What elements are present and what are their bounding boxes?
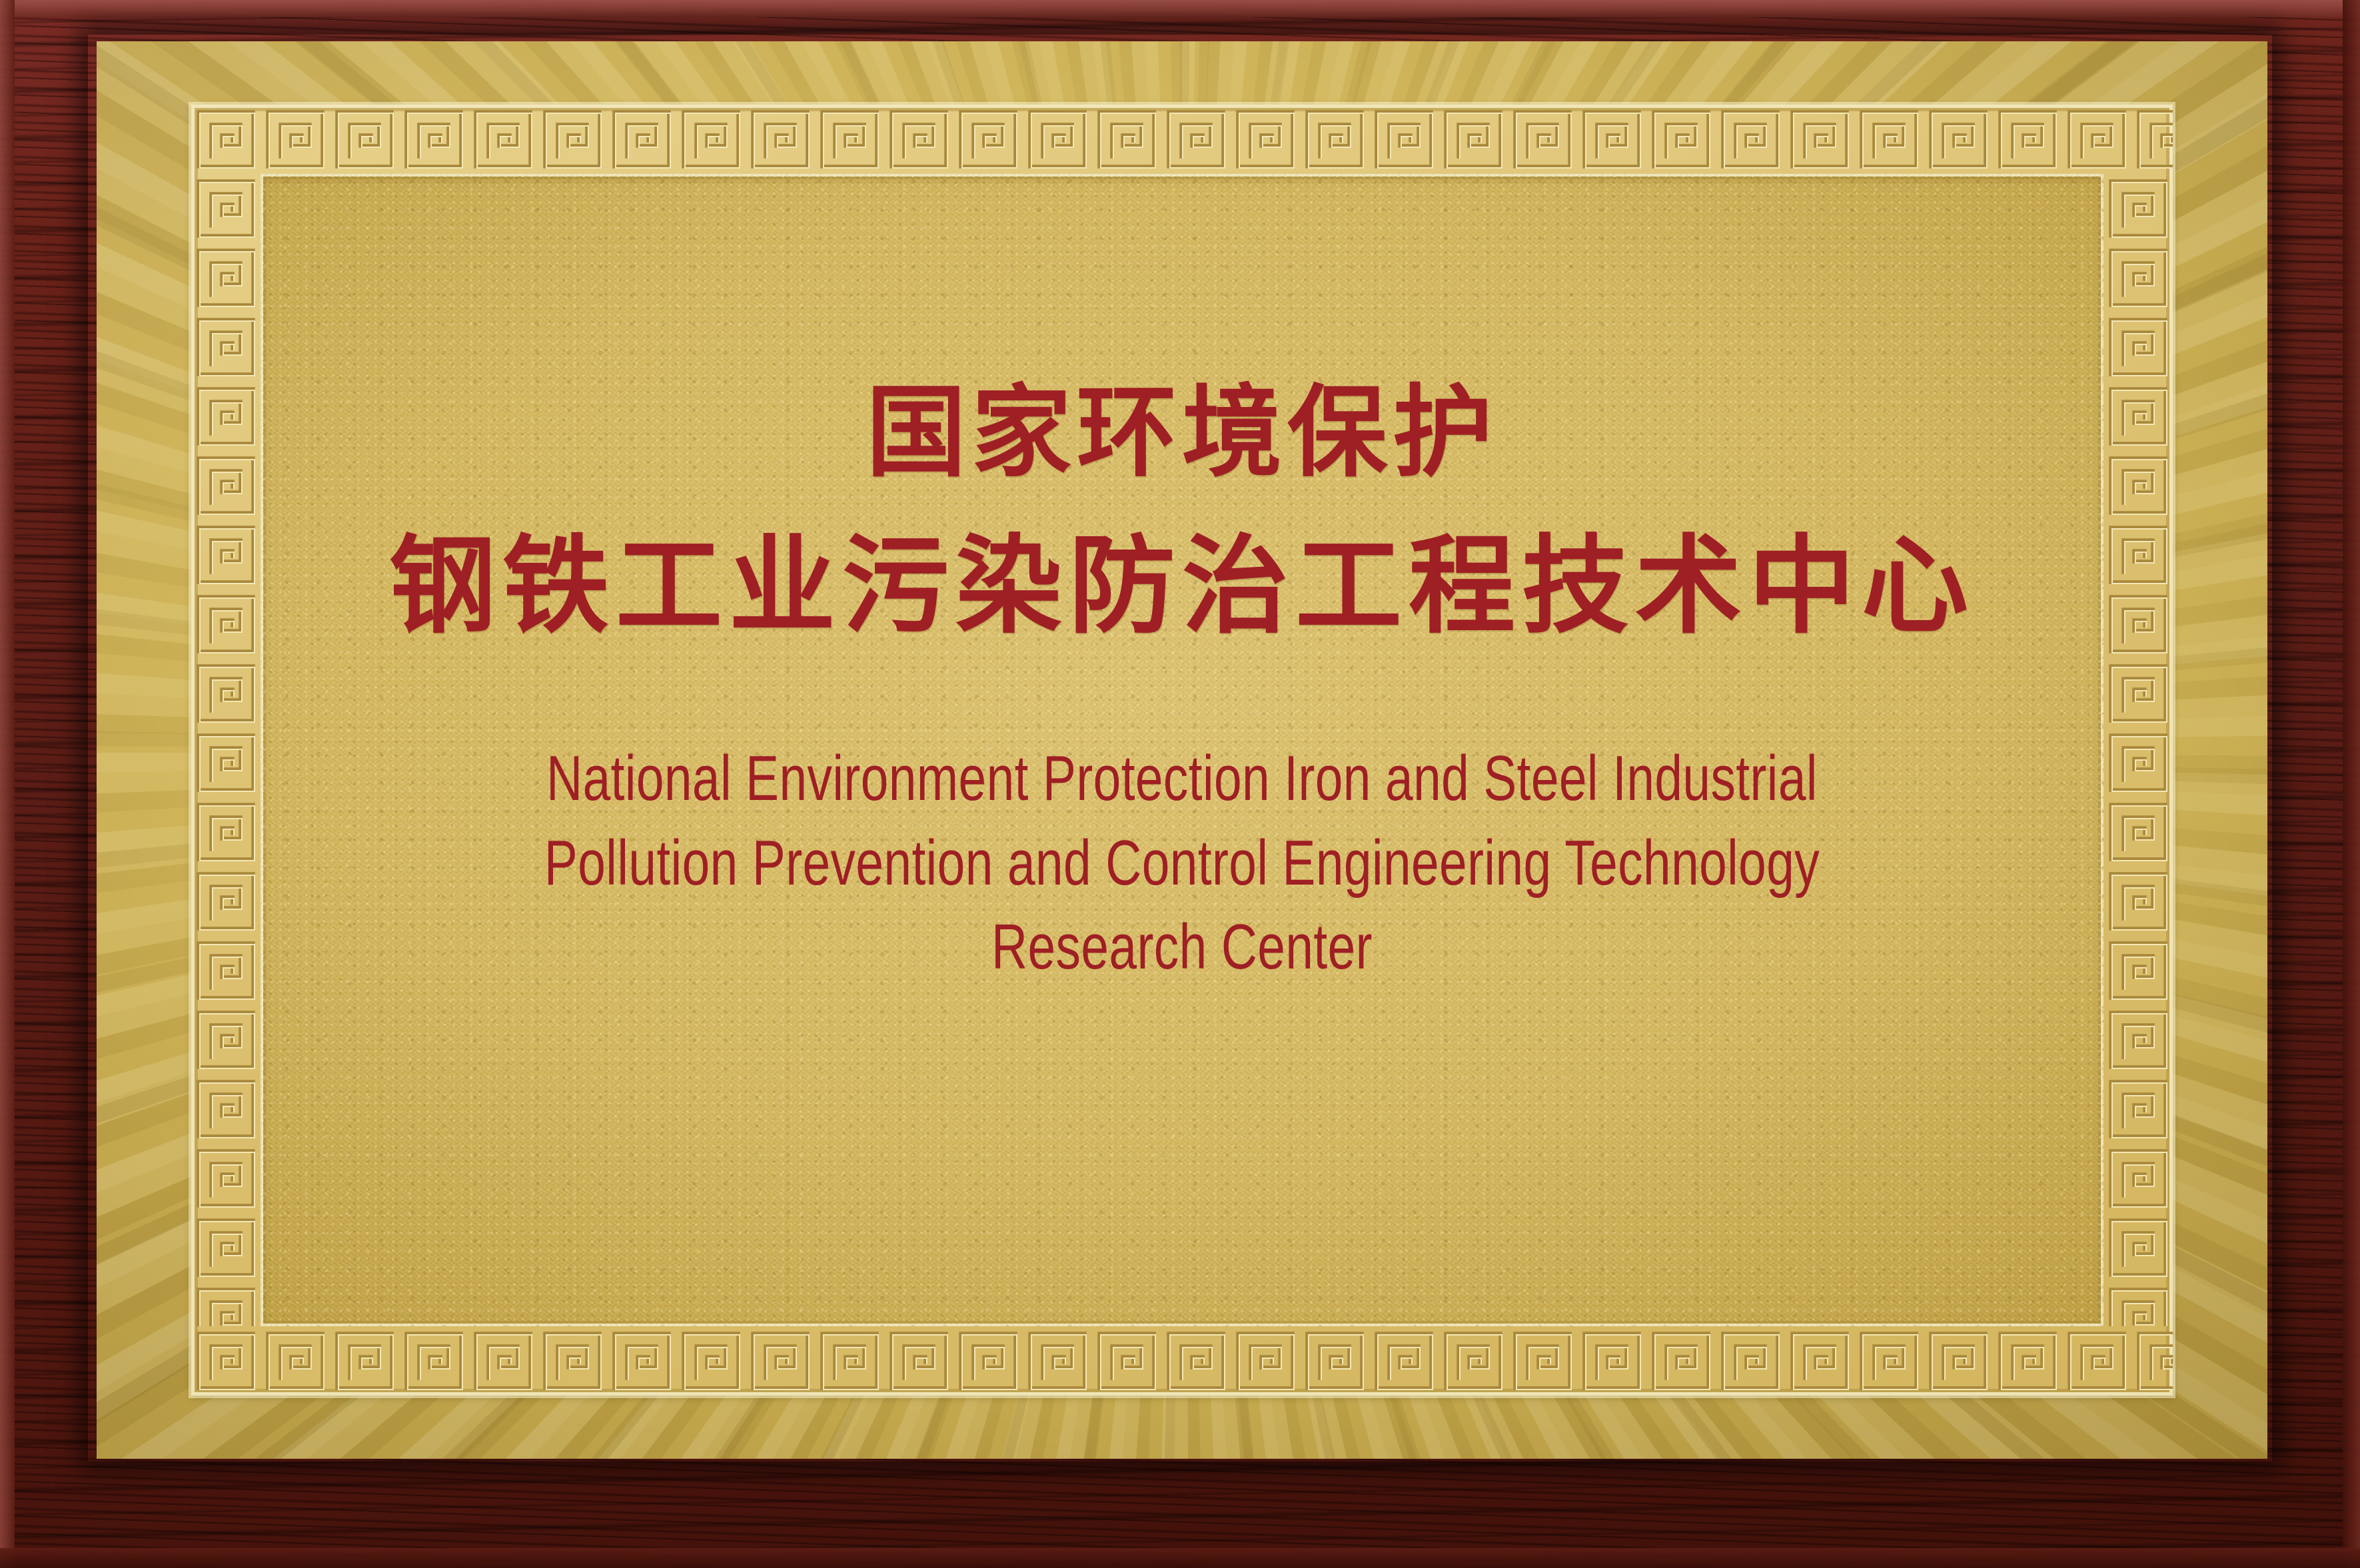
gold-plate: 国家环境保护 钢铁工业污染防治工程技术中心 National Environme… xyxy=(97,41,2267,1459)
frame-bevel-right xyxy=(2343,0,2360,1568)
english-subtitle-line-2: Pollution Prevention and Control Enginee… xyxy=(454,821,1910,906)
chinese-title-line-2: 钢铁工业污染防治工程技术中心 xyxy=(389,528,1975,645)
english-subtitle-line-3: Research Center xyxy=(454,905,1910,990)
frame-bevel-left xyxy=(0,0,15,1568)
frame-bevel-bottom xyxy=(0,1548,2360,1568)
chinese-title-line-1: 国家环境保护 xyxy=(866,378,1498,488)
award-plaque: 国家环境保护 钢铁工业污染防治工程技术中心 National Environme… xyxy=(0,0,2360,1568)
english-subtitle-line-1: National Environment Protection Iron and… xyxy=(454,737,1910,821)
inscription-content: 国家环境保护 钢铁工业污染防治工程技术中心 National Environme… xyxy=(97,41,2267,1459)
english-subtitle: National Environment Protection Iron and… xyxy=(454,737,1910,990)
frame-bevel-top xyxy=(0,0,2360,17)
